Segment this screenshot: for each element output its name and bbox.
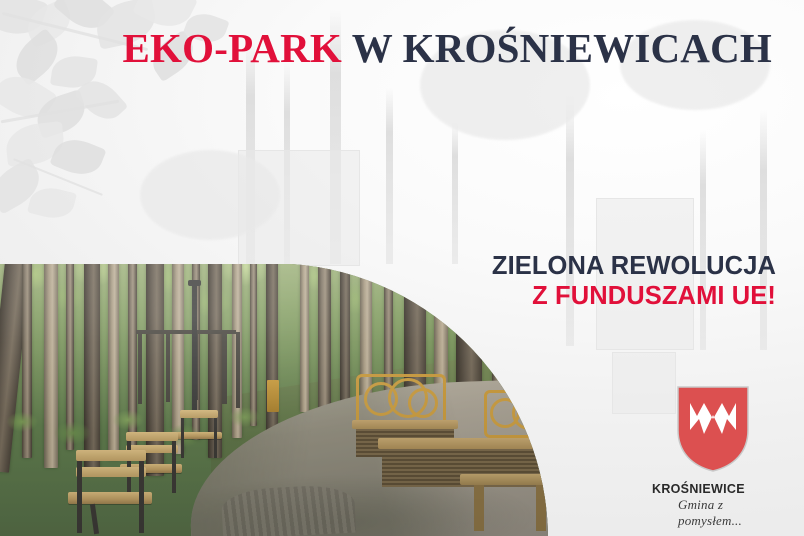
ghost-tree-column bbox=[452, 120, 458, 264]
poster-canvas: EKO-PARK W KROŚNIEWICACH ZIELONA REWOLUC… bbox=[0, 0, 804, 536]
headline-rest: W KROŚNIEWICACH bbox=[342, 25, 772, 71]
ghost-tree-column bbox=[700, 130, 706, 350]
municipality-logo: KROŚNIEWICE Gmina z pomysłem... bbox=[648, 386, 788, 516]
logo-slogan: Gmina z pomysłem... bbox=[678, 497, 788, 529]
ghost-tree-column bbox=[760, 110, 767, 350]
ghost-tree-column bbox=[386, 88, 393, 264]
coat-of-arms-icon bbox=[677, 386, 749, 472]
headline-highlight: EKO-PARK bbox=[123, 25, 343, 71]
poster-tagline: ZIELONA REWOLUCJA Z FUNDUSZAMI UE! bbox=[492, 252, 776, 311]
shield-shape bbox=[678, 387, 748, 471]
tagline-line-2: Z FUNDUSZAMI UE! bbox=[492, 282, 776, 312]
logo-municipality-name: KROŚNIEWICE bbox=[652, 482, 788, 496]
tagline-line-1: ZIELONA REWOLUCJA bbox=[492, 252, 776, 282]
poster-headline: EKO-PARK W KROŚNIEWICACH bbox=[0, 28, 772, 69]
ghost-foliage bbox=[140, 150, 280, 240]
